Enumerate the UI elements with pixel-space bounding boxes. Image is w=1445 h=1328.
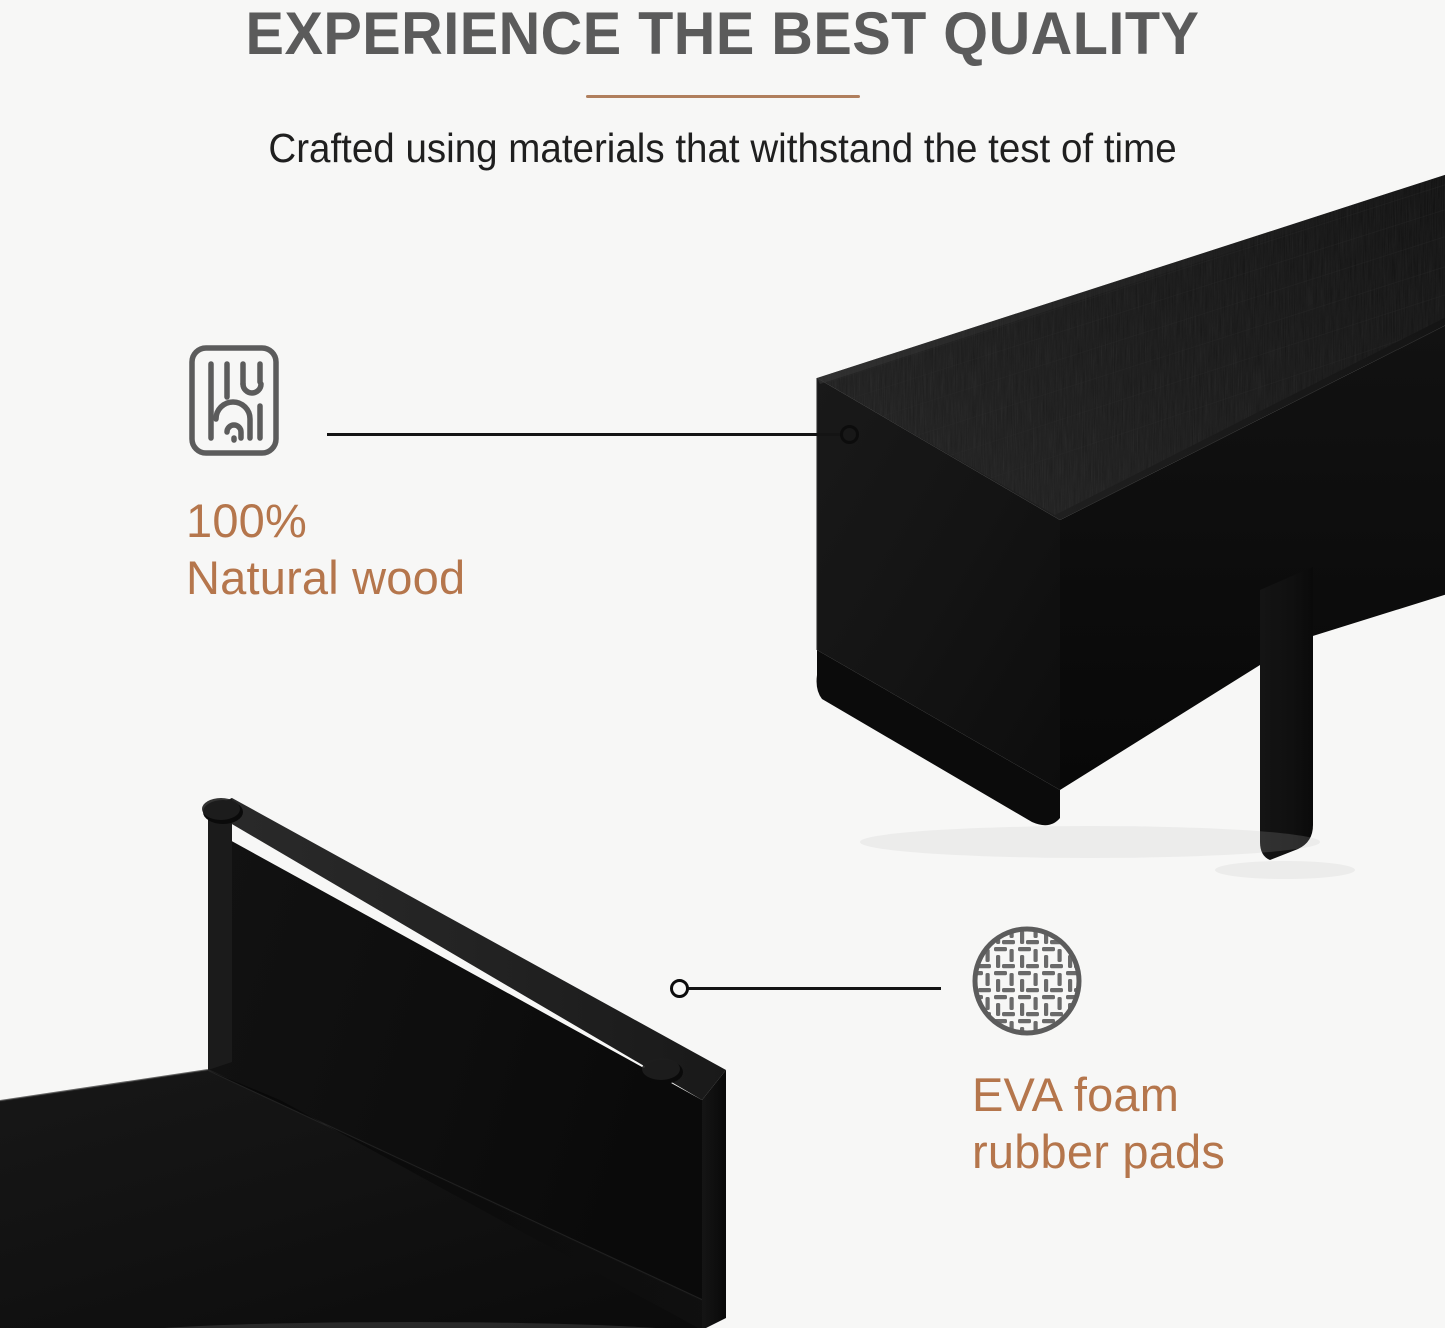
callout-dot-eva-foam	[670, 979, 689, 998]
stand-underside-illustration	[0, 770, 740, 1328]
product-photo-top-view	[760, 170, 1445, 890]
page-title: EXPERIENCE THE BEST QUALITY	[29, 0, 1416, 66]
product-photo-underside-view	[0, 770, 740, 1328]
stand-right-thickness	[702, 1070, 726, 1328]
header: EXPERIENCE THE BEST QUALITY Crafted usin…	[0, 0, 1445, 66]
feature-label-eva-foam: EVA foam rubber pads	[972, 1066, 1225, 1180]
stand-top-view-illustration	[760, 170, 1445, 890]
page-subtitle: Crafted using materials that withstand t…	[43, 122, 1401, 174]
feature-label-natural-wood: 100% Natural wood	[186, 492, 465, 606]
callout-dot-natural-wood	[840, 425, 859, 444]
foam-weave-icon	[968, 922, 1086, 1040]
callout-line-eva-foam	[688, 987, 941, 990]
wood-grain-icon	[186, 342, 282, 459]
stand-right-leg	[1260, 567, 1313, 860]
foam-weave-pattern	[968, 922, 1086, 1040]
callout-line-natural-wood	[327, 433, 842, 436]
product-infographic: EXPERIENCE THE BEST QUALITY Crafted usin…	[0, 0, 1445, 1328]
title-divider	[586, 95, 860, 98]
